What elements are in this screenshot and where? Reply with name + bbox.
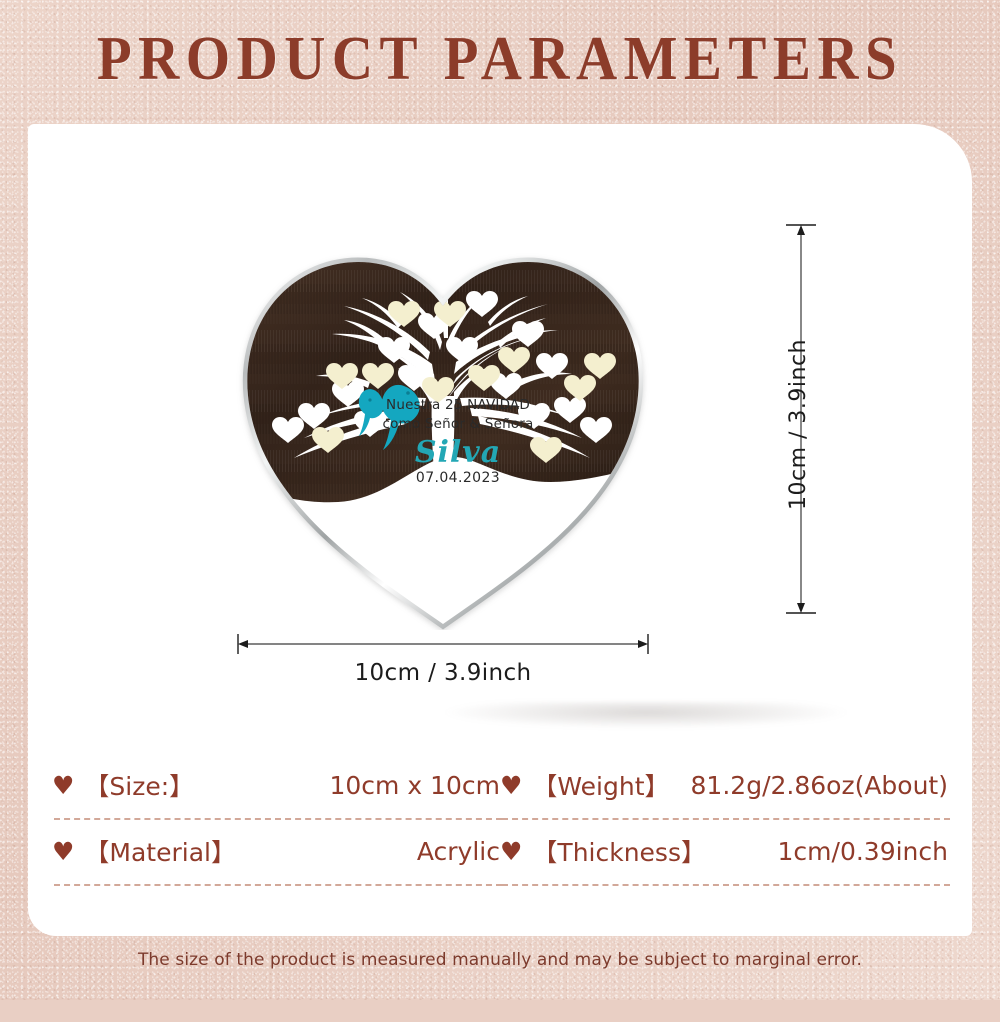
footer-note: The size of the product is measured manu… (0, 950, 1000, 970)
spec-value-weight: 81.2g/2.86oz(About) (691, 771, 952, 800)
spec-separator-left-2 (54, 884, 502, 886)
spec-table: ♥ 【Size:】 10cm x 10cm ♥ 【Material】 Acryl… (28, 754, 972, 1022)
spec-label-material: 【Material】 (84, 833, 236, 869)
heart-bullet-icon: ♥ (52, 773, 74, 798)
spec-value-thickness: 1cm/0.39inch (778, 837, 952, 866)
spec-row-size: ♥ 【Size:】 10cm x 10cm (52, 754, 504, 818)
spec-row-material: ♥ 【Material】 Acrylic (52, 820, 504, 884)
spec-label-weight: 【Weight】 (532, 767, 669, 803)
dimension-height-label: 10cm / 3.9inch (786, 339, 811, 510)
spec-label-size: 【Size:】 (84, 767, 194, 803)
heart-bullet-icon: ♥ (500, 839, 522, 864)
spec-row-weight: ♥ 【Weight】 81.2g/2.86oz(About) (500, 754, 952, 818)
spec-value-size: 10cm x 10cm (329, 771, 504, 800)
spec-column-right: ♥ 【Weight】 81.2g/2.86oz(About) ♥ 【Thickn… (500, 754, 952, 886)
dimension-height: 10cm / 3.9inch (768, 219, 848, 619)
product-image-stage: Nuestra 25 NAVIDAD como Señor & Señora S… (28, 124, 972, 704)
dimension-width: 10cm / 3.9inch (233, 632, 653, 702)
spec-value-material: Acrylic (417, 837, 504, 866)
dimension-width-label: 10cm / 3.9inch (233, 660, 653, 686)
page-title: PRODUCT PARAMETERS (40, 28, 960, 90)
spec-row-thickness: ♥ 【Thickness】 1cm/0.39inch (500, 820, 952, 884)
plaque-face (228, 210, 658, 630)
content-card: Nuestra 25 NAVIDAD como Señor & Señora S… (28, 124, 972, 936)
dimension-width-line (233, 632, 653, 658)
plaque-artwork (228, 210, 658, 630)
spec-label-thickness: 【Thickness】 (532, 833, 706, 869)
spec-separator-right-2 (502, 884, 950, 886)
heart-bullet-icon: ♥ (500, 773, 522, 798)
spec-column-left: ♥ 【Size:】 10cm x 10cm ♥ 【Material】 Acryl… (52, 754, 504, 886)
heart-acrylic-plaque (228, 210, 658, 630)
plaque-drop-shadow (446, 702, 846, 728)
heart-bullet-icon: ♥ (52, 839, 74, 864)
